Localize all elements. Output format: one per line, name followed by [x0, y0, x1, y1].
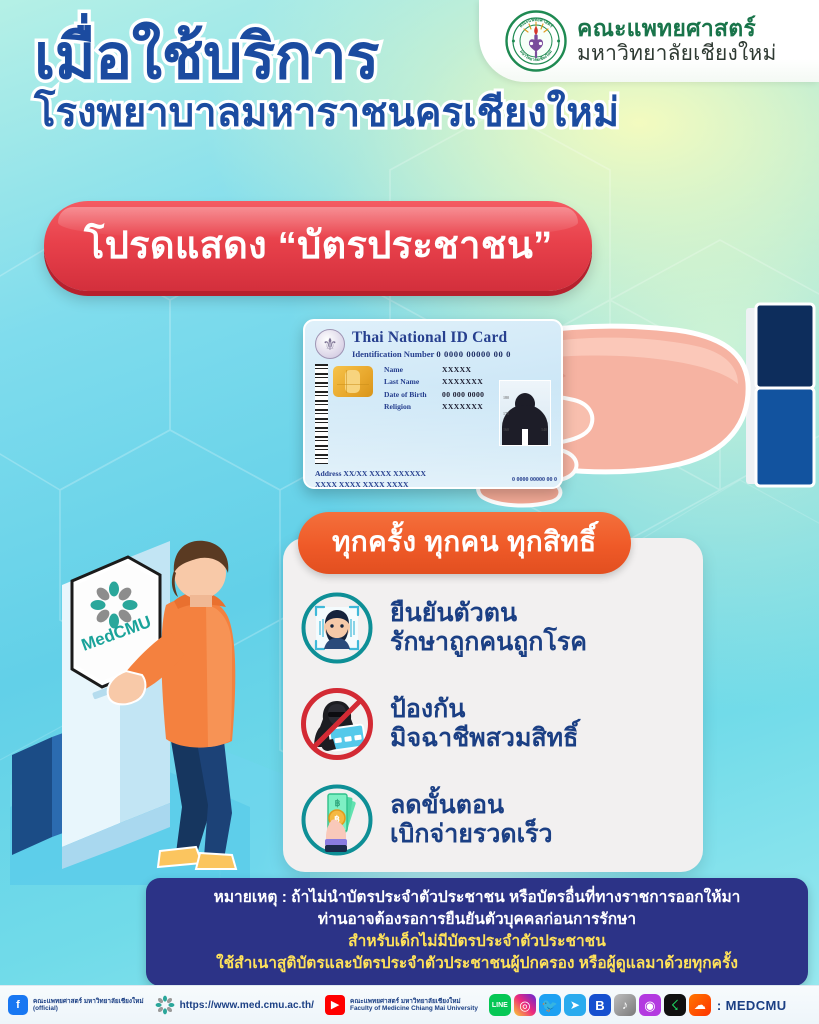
- twitter-icon[interactable]: 🐦: [539, 994, 561, 1016]
- benefits-banner-pill: ทุกครั้ง ทุกคน ทุกสิทธิ์: [298, 512, 631, 574]
- id-field-key: Last Name: [384, 376, 442, 388]
- facebook-icon[interactable]: f: [8, 995, 28, 1015]
- benefit-line-1: ยืนยันตัวตน: [390, 599, 587, 628]
- footer-facebook[interactable]: f คณะแพทยศาสตร์ มหาวิทยาลัยเชียงใหม่ (of…: [8, 995, 144, 1015]
- note-line-3: สำหรับเด็กไม่มีบัตรประจำตัวประชาชน: [160, 931, 794, 953]
- note-line-2: ท่านอาจต้องรอการยืนยันตัวบุคคลก่อนการรัก…: [160, 909, 794, 931]
- id-field-key: Date of Birth: [384, 389, 442, 401]
- blockdit-icon[interactable]: B: [589, 994, 611, 1016]
- website-url[interactable]: https://www.med.cmu.ac.th/: [180, 1000, 314, 1011]
- footer-youtube[interactable]: ▶ คณะแพทยศาสตร์ มหาวิทยาลัยเชียงใหม่ Fac…: [325, 995, 478, 1015]
- benefit-line-2: เบิกจ่ายรวดเร็ว: [390, 820, 553, 849]
- id-field-key: Name: [384, 364, 442, 376]
- line-icon[interactable]: LINE: [489, 994, 511, 1016]
- id-card-barcode: [315, 364, 328, 464]
- youtube-name-en: Faculty of Medicine Chiang Mai Universit…: [350, 1005, 478, 1012]
- face-scan-icon: [300, 591, 374, 665]
- photo-scale-mark: 160: [503, 427, 509, 432]
- facebook-official-label: (official): [33, 1005, 144, 1012]
- benefits-banner-label: ทุกครั้ง ทุกคน ทุกสิทธิ์: [332, 526, 597, 557]
- social-icon-group: LINE ◎ 🐦 ➤ B ♪ ◉ ☇ ☁ : MEDCMU: [489, 994, 787, 1016]
- id-field-row: Last Name XXXXXXX: [384, 376, 492, 388]
- headline-line-2: โรงพยาบาลมหาราชนครเชียงใหม่: [34, 91, 674, 135]
- id-field-value: XXXXXXX: [442, 401, 483, 413]
- photo-scale-mark: 180: [503, 395, 509, 400]
- id-card-chip-icon: [333, 366, 373, 397]
- id-number-label: Identification Number: [352, 349, 434, 359]
- footer-website[interactable]: https://www.med.cmu.ac.th/: [155, 995, 314, 1015]
- tiktok-icon[interactable]: ♪: [614, 994, 636, 1016]
- photo-scale-mark: 170: [503, 411, 509, 416]
- id-card-photo: 180 170 160 140: [499, 380, 551, 446]
- id-field-value: XXXXX: [442, 364, 471, 376]
- benefit-line-1: ป้องกัน: [390, 695, 578, 724]
- id-number-value: 0 0000 00000 00 0: [436, 349, 511, 359]
- youtube-name-th: คณะแพทยศาสตร์ มหาวิทยาลัยเชียงใหม่: [350, 998, 478, 1005]
- social-footer-bar: f คณะแพทยศาสตร์ มหาวิทยาลัยเชียงใหม่ (of…: [0, 985, 819, 1024]
- medcmu-flower-icon: [155, 995, 175, 1015]
- id-field-key: Religion: [384, 401, 442, 413]
- call-to-action-label: โปรดแสดง “บัตรประชาชน”: [84, 225, 552, 267]
- note-banner: หมายเหตุ : ถ้าไม่นำบัตรประจำตัวประชาชน ห…: [146, 878, 808, 986]
- call-to-action-pill: โปรดแสดง “บัตรประชาชน”: [44, 201, 592, 291]
- infographic-poster: คณะแพทยศาสตร์ มหาวิทยาลัยเชียงใหม่ คณะแพ…: [0, 0, 819, 1024]
- benefit-line-1: ลดขั้นตอน: [390, 791, 553, 820]
- headline-line-1: เมื่อใช้บริการ: [34, 26, 674, 89]
- facebook-name-th: คณะแพทยศาสตร์ มหาวิทยาลัยเชียงใหม่: [33, 998, 144, 1005]
- benefits-list: ยืนยันตัวตน รักษาถูกคนถูกโรค: [300, 580, 700, 868]
- photo-tie-shape: [522, 429, 528, 445]
- kiosk-scene-illustration: MedCMU: [10, 455, 310, 885]
- youtube-icon[interactable]: ▶: [325, 995, 345, 1015]
- social-handle: : MEDCMU: [717, 998, 787, 1013]
- note-line-1: หมายเหตุ : ถ้าไม่นำบัตรประจำตัวประชาชน ห…: [160, 887, 794, 909]
- no-fraud-icon: [300, 687, 374, 761]
- benefit-line-2: มิจฉาชีพสวมสิทธิ์: [390, 724, 578, 753]
- thai-national-id-card: ⚜ Thai National ID Card Identification N…: [303, 319, 563, 489]
- id-card-title: Thai National ID Card: [352, 329, 511, 347]
- id-field-row: Religion XXXXXXX: [384, 401, 492, 413]
- fast-payment-icon: ฿ ฿: [300, 783, 374, 857]
- podcast-icon[interactable]: ◉: [639, 994, 661, 1016]
- telegram-icon[interactable]: ➤: [564, 994, 586, 1016]
- headline-block: เมื่อใช้บริการ โรงพยาบาลมหาราชนครเชียงให…: [34, 26, 674, 135]
- benefit-item-fast-payment: ฿ ฿ ลดขั้นตอน เบิกจ่ายรวดเร็ว: [300, 772, 700, 868]
- id-field-value: XXXXXXX: [442, 376, 483, 388]
- note-line-4: ใช้สำเนาสูติบัตรและบัตรประจำตัวประชาชนผู…: [160, 953, 794, 975]
- benefit-item-identity: ยืนยันตัวตน รักษาถูกคนถูกโรค: [300, 580, 700, 676]
- id-field-row: Date of Birth 00 000 0000: [384, 389, 492, 401]
- instagram-icon[interactable]: ◎: [514, 994, 536, 1016]
- garuda-emblem-icon: ⚜: [315, 329, 345, 359]
- svg-text:฿: ฿: [335, 798, 341, 808]
- id-card-fields: Name XXXXX Last Name XXXXXXX Date of Bir…: [384, 364, 492, 464]
- id-field-value: 00 000 0000: [442, 389, 484, 401]
- id-field-row: Name XXXXX: [384, 364, 492, 376]
- id-photo-number: 0 0000 00000 00 0: [512, 477, 557, 483]
- soundcloud-icon[interactable]: ☁: [689, 994, 711, 1016]
- benefit-item-fraud-prevention: ป้องกัน มิจฉาชีพสวมสิทธิ์: [300, 676, 700, 772]
- photo-scale-mark: 140: [541, 427, 547, 432]
- benefit-line-2: รักษาถูกคนถูกโรค: [390, 628, 587, 657]
- spotify-icon[interactable]: ☇: [664, 994, 686, 1016]
